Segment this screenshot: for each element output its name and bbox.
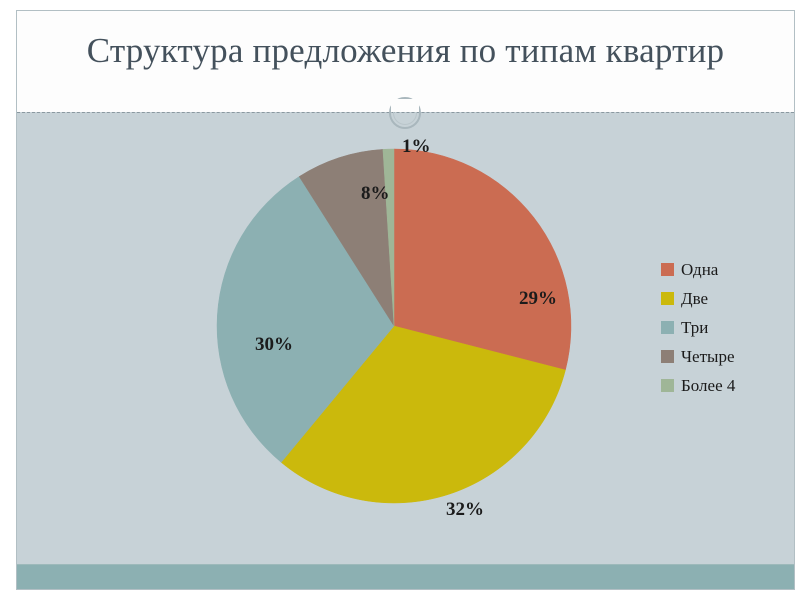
legend-item[interactable]: Более 4 — [661, 371, 735, 400]
chart-legend: ОднаДвеТриЧетыреБолее 4 — [661, 255, 735, 400]
pie-slice-label: 8% — [361, 183, 390, 205]
legend-item[interactable]: Три — [661, 313, 735, 342]
pie-slice-label: 1% — [402, 136, 431, 158]
legend-swatch-icon — [661, 292, 674, 305]
chart-area: 29%32%30%8%1% ОднаДвеТриЧетыреБолее 4 — [17, 112, 794, 565]
pie-chart: 29%32%30%8%1% — [214, 146, 574, 506]
legend-item-label: Одна — [681, 260, 718, 280]
pie-slice-label: 30% — [255, 334, 293, 356]
legend-item-label: Более 4 — [681, 376, 735, 396]
legend-item[interactable]: Две — [661, 284, 735, 313]
legend-item-label: Три — [681, 318, 708, 338]
ring-top-mask — [391, 99, 419, 112]
pie-chart-svg — [214, 146, 574, 506]
pie-slice-label: 29% — [519, 288, 557, 310]
slide-bottom-band — [17, 564, 794, 589]
page-title: Структура предложения по типам квартир — [17, 31, 794, 71]
slide: Структура предложения по типам квартир 2… — [16, 10, 795, 590]
legend-item[interactable]: Одна — [661, 255, 735, 284]
legend-item-label: Четыре — [681, 347, 735, 367]
legend-swatch-icon — [661, 263, 674, 276]
legend-swatch-icon — [661, 321, 674, 334]
legend-swatch-icon — [661, 350, 674, 363]
pie-slice-label: 32% — [446, 499, 484, 521]
legend-item[interactable]: Четыре — [661, 342, 735, 371]
legend-item-label: Две — [681, 289, 708, 309]
legend-swatch-icon — [661, 379, 674, 392]
